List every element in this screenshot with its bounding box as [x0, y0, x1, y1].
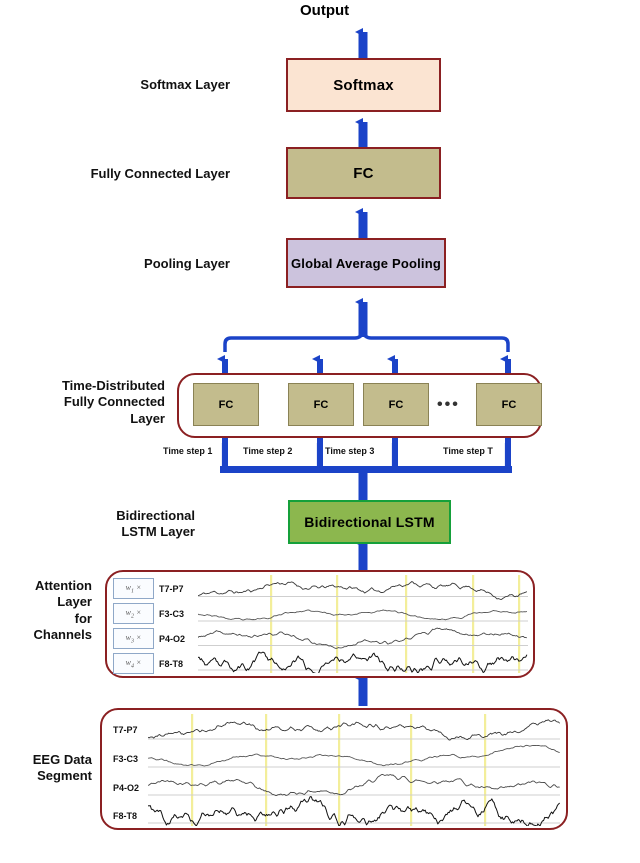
eeg-time-marker: [338, 714, 340, 826]
eeg-channel-label-4: F8-T8: [113, 811, 137, 821]
eeg-trace: [148, 797, 560, 826]
eeg-trace: [148, 720, 560, 740]
attention-channel-label-3: P4-O2: [159, 634, 185, 644]
attention-channel-label-4: F8-T8: [159, 659, 183, 669]
bidirectional-lstm-box: Bidirectional LSTM: [288, 500, 451, 544]
eeg-time-marker: [518, 575, 520, 673]
attention-weight-text-4: w4 ×: [126, 658, 142, 670]
attention-eeg-traces: [198, 575, 528, 673]
attention-channel-label-1: T7-P7: [159, 584, 184, 594]
eeg-channel-label-2: F3-C3: [113, 754, 138, 764]
attention-weight-box-3: w3 ×: [113, 628, 154, 649]
attention-weight-text-2: w2 ×: [126, 608, 142, 620]
side-label-eeg-data-segment: EEG Data Segment: [0, 752, 92, 785]
attention-channel-label-2: F3-C3: [159, 609, 184, 619]
attention-weight-text-1: w1 ×: [126, 583, 142, 595]
attention-weight-text-3: w3 ×: [126, 633, 142, 645]
eeg-segment-traces: [148, 714, 560, 826]
attention-weight-box-4: w4 ×: [113, 653, 154, 674]
attention-weight-box-1: w1 ×: [113, 578, 154, 599]
eeg-trace: [148, 745, 560, 766]
side-label-bidirectional-lstm-layer: Bidirectional LSTM Layer: [30, 508, 195, 541]
eeg-channel-label-3: P4-O2: [113, 783, 139, 793]
side-label-attention-layer-for-channels: Attention Layer for Channels: [0, 578, 92, 643]
attention-weight-box-2: w2 ×: [113, 603, 154, 624]
architecture-diagram: Output: [0, 0, 640, 863]
eeg-time-marker: [191, 714, 193, 826]
eeg-trace: [198, 610, 527, 620]
eeg-time-marker: [405, 575, 407, 673]
eeg-trace: [148, 774, 560, 795]
eeg-channel-label-1: T7-P7: [113, 725, 138, 735]
